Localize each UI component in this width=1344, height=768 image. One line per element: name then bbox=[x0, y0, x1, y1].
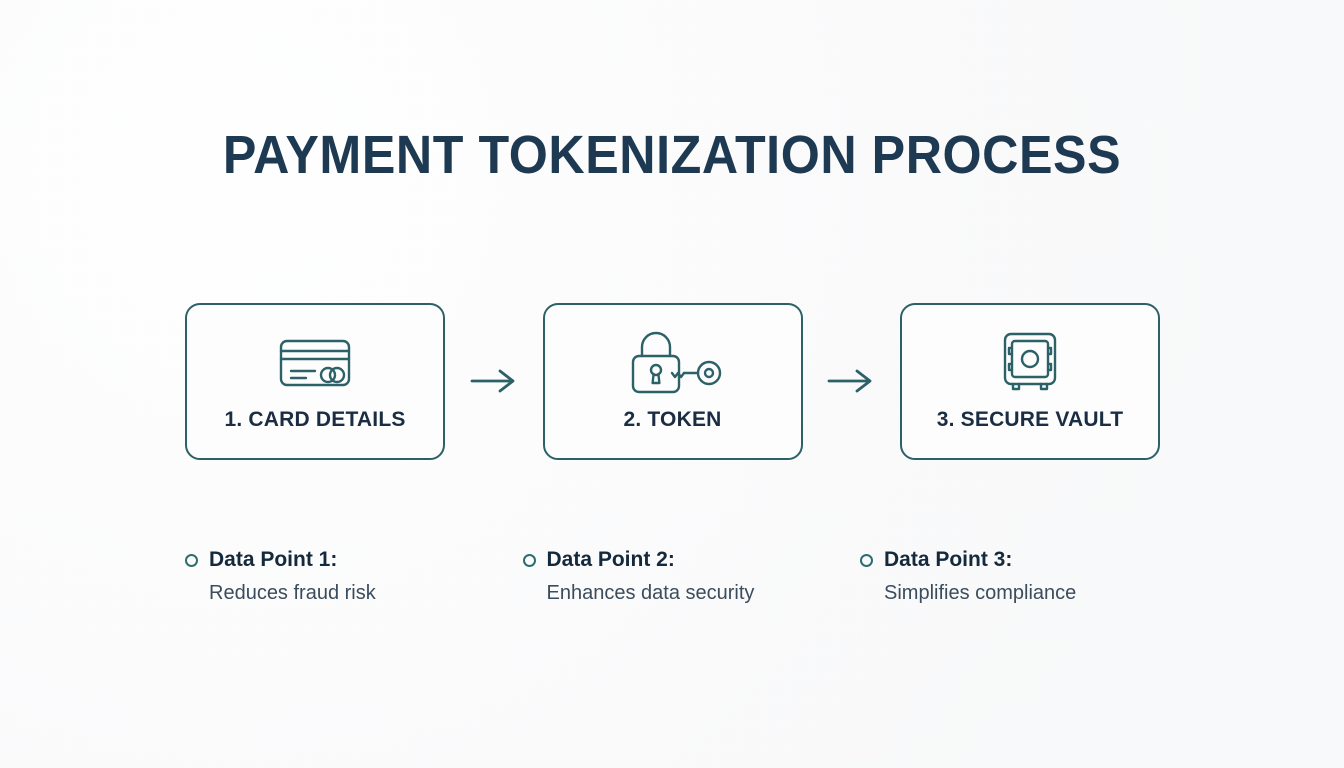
lock-and-key-icon bbox=[621, 332, 725, 394]
arrow-right-icon bbox=[466, 368, 522, 394]
data-point-1: Data Point 1: Reduces fraud risk bbox=[185, 548, 485, 605]
data-point-heading: Data Point 2: bbox=[523, 548, 823, 572]
arrow-right-icon bbox=[823, 368, 879, 394]
data-point-description: Simplifies compliance bbox=[884, 582, 1160, 605]
data-point-2: Data Point 2: Enhances data security bbox=[523, 548, 823, 605]
step-card-token[interactable]: 2. TOKEN bbox=[543, 303, 803, 460]
safe-vault-icon bbox=[998, 332, 1062, 394]
circle-outline-bullet-icon bbox=[523, 554, 536, 567]
data-point-title: Data Point 2: bbox=[547, 548, 675, 572]
process-flow-row: 1. CARD DETAILS bbox=[185, 302, 1160, 460]
step-label: 2. TOKEN bbox=[623, 408, 721, 432]
circle-outline-bullet-icon bbox=[860, 554, 873, 567]
page-title: PAYMENT TOKENIZATION PROCESS bbox=[47, 124, 1297, 186]
data-point-heading: Data Point 1: bbox=[185, 548, 485, 572]
step-label: 1. CARD DETAILS bbox=[224, 408, 405, 432]
step-card-card-details[interactable]: 1. CARD DETAILS bbox=[185, 303, 445, 460]
credit-card-icon bbox=[278, 332, 352, 394]
data-point-title: Data Point 1: bbox=[209, 548, 337, 572]
data-point-heading: Data Point 3: bbox=[860, 548, 1160, 572]
data-points-row: Data Point 1: Reduces fraud risk Data Po… bbox=[185, 548, 1160, 605]
data-point-description: Enhances data security bbox=[547, 582, 823, 605]
data-point-3: Data Point 3: Simplifies compliance bbox=[860, 548, 1160, 605]
data-point-title: Data Point 3: bbox=[884, 548, 1012, 572]
slide-canvas: PAYMENT TOKENIZATION PROCESS 1. CARD DET… bbox=[0, 0, 1344, 768]
data-point-description: Reduces fraud risk bbox=[209, 582, 485, 605]
circle-outline-bullet-icon bbox=[185, 554, 198, 567]
step-label: 3. SECURE VAULT bbox=[937, 408, 1124, 432]
step-card-secure-vault[interactable]: 3. SECURE VAULT bbox=[900, 303, 1160, 460]
